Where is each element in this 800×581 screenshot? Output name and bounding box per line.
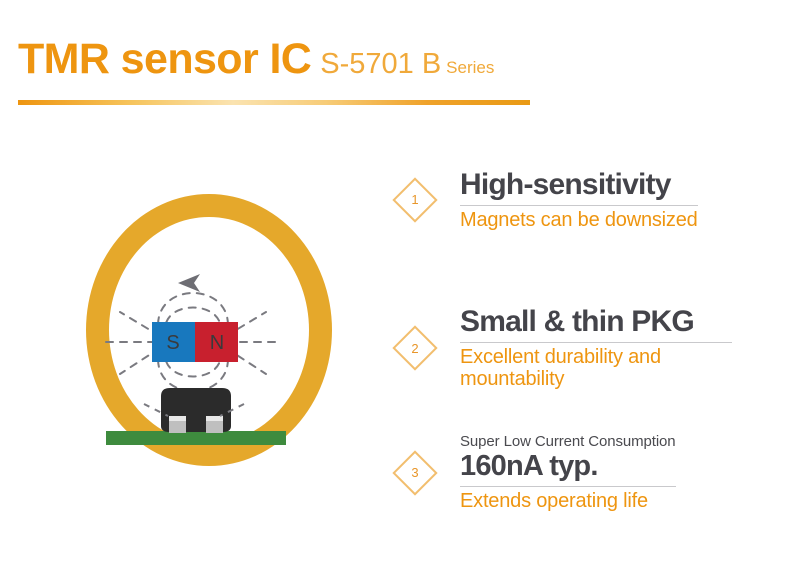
svg-text:S: S — [166, 332, 179, 354]
bar-magnet-icon: S N — [152, 322, 238, 362]
feature-item-3: 3 Super Low Current Consumption 160nA ty… — [392, 433, 676, 513]
feature-text-1: High-sensitivity Magnets can be downsize… — [460, 168, 698, 231]
feature-heading-3: 160nA typ. — [460, 450, 676, 482]
title-series-text: Series — [446, 59, 494, 76]
feature-text-2: Small & thin PKG Excellent durability an… — [460, 305, 732, 391]
page-title: TMR sensor IC S-5701 B Series — [18, 38, 778, 81]
feature-text-3: Super Low Current Consumption 160nA typ.… — [460, 433, 676, 513]
feature-divider-1 — [460, 205, 698, 206]
field-arrow-top-icon — [178, 274, 200, 292]
feature-item-1: 1 High-sensitivity Magnets can be downsi… — [392, 168, 698, 231]
diamond-number-2: 2 — [392, 325, 438, 371]
feature-eyebrow-3: Super Low Current Consumption — [460, 433, 676, 450]
feature-divider-3 — [460, 486, 676, 487]
feature-heading-1: High-sensitivity — [460, 168, 698, 202]
header: TMR sensor IC S-5701 B Series — [18, 38, 778, 110]
feature-heading-2: Small & thin PKG — [460, 305, 732, 339]
diamond-number-1: 1 — [392, 177, 438, 223]
feature-list: 1 High-sensitivity Magnets can be downsi… — [392, 150, 792, 550]
pcb-board-icon — [106, 431, 286, 445]
feature-subtitle-2: Excellent durability and mountability — [460, 346, 732, 392]
illustration-panel: S N — [48, 186, 338, 476]
diamond-badge-1: 1 — [392, 177, 438, 223]
svg-text:N: N — [210, 332, 224, 354]
ic-package-icon — [161, 388, 231, 433]
feature-subtitle-3: Extends operating life — [460, 490, 676, 513]
diamond-badge-2: 2 — [392, 325, 438, 371]
title-underline-bar — [18, 100, 530, 105]
diamond-number-3: 3 — [392, 450, 438, 496]
magnet-sensor-illustration: S N — [48, 186, 338, 476]
title-model-text: S-5701 B — [320, 50, 441, 79]
diamond-badge-3: 3 — [392, 450, 438, 496]
feature-subtitle-1: Magnets can be downsized — [460, 209, 698, 232]
title-main-text: TMR sensor IC — [18, 38, 311, 81]
feature-divider-2 — [460, 342, 732, 343]
feature-item-2: 2 Small & thin PKG Excellent durability … — [392, 305, 732, 391]
poster-canvas: TMR sensor IC S-5701 B Series — [0, 0, 800, 581]
